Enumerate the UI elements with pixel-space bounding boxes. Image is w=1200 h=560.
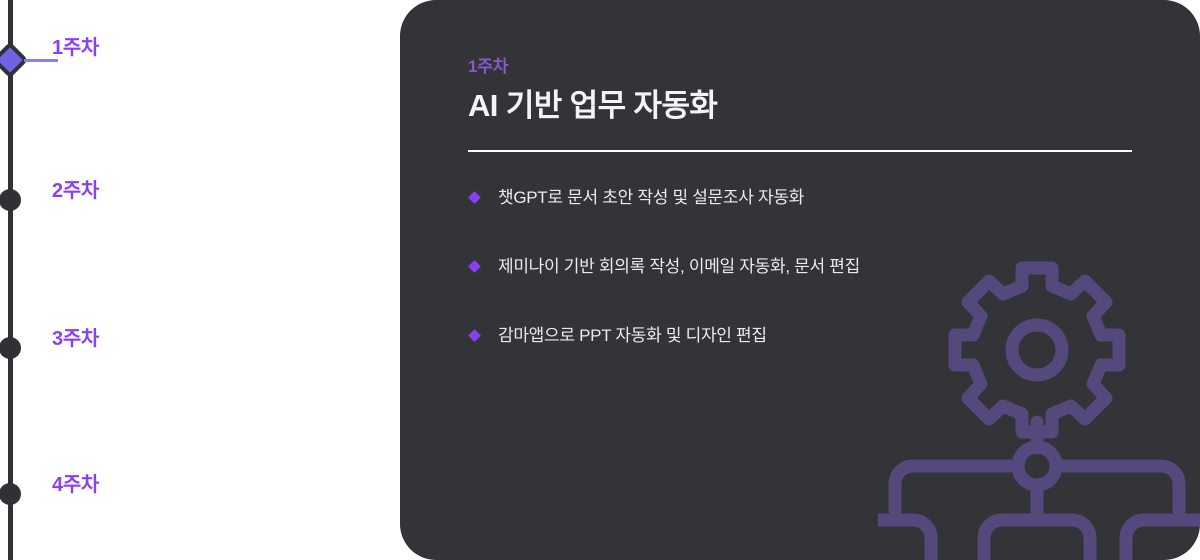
diamond-bullet-icon <box>468 260 481 273</box>
timeline-label-week-2: 2주차 <box>52 174 99 203</box>
list-item-text: 감마앱으로 PPT 자동화 및 디자인 편집 <box>498 326 767 345</box>
diamond-bullet-icon <box>468 329 481 342</box>
list-item-text: 제미나이 기반 회의록 작성, 이메일 자동화, 문서 편집 <box>498 257 860 276</box>
list-item-text: 챗GPT로 문서 초안 작성 및 설문조사 자동화 <box>498 188 804 207</box>
card-eyebrow-week: 1주차 <box>468 52 1132 77</box>
timeline-label-week-4: 4주차 <box>52 468 99 497</box>
card-bullet-list: 챗GPT로 문서 초안 작성 및 설문조사 자동화 제미나이 기반 회의록 작성… <box>468 152 1132 347</box>
list-item: 제미나이 기반 회의록 작성, 이메일 자동화, 문서 편집 <box>468 255 1132 279</box>
dot-marker-icon <box>0 189 21 211</box>
dot-marker-icon <box>0 483 21 505</box>
diamond-bullet-icon <box>468 191 481 204</box>
week-detail-card: 1주차 AI 기반 업무 자동화 챗GPT로 문서 초안 작성 및 설문조사 자… <box>400 0 1200 560</box>
card-title: AI 기반 업무 자동화 <box>468 87 1132 124</box>
timeline-axis-line <box>8 0 13 560</box>
timeline-label-week-1: 1주차 <box>52 31 99 60</box>
list-item: 챗GPT로 문서 초안 작성 및 설문조사 자동화 <box>468 186 1132 210</box>
timeline-rail: 1주차 2주차 3주차 4주차 <box>0 0 400 560</box>
dot-marker-icon <box>0 337 21 359</box>
timeline-label-week-3: 3주차 <box>52 322 99 351</box>
list-item: 감마앱으로 PPT 자동화 및 디자인 편집 <box>468 324 1132 348</box>
